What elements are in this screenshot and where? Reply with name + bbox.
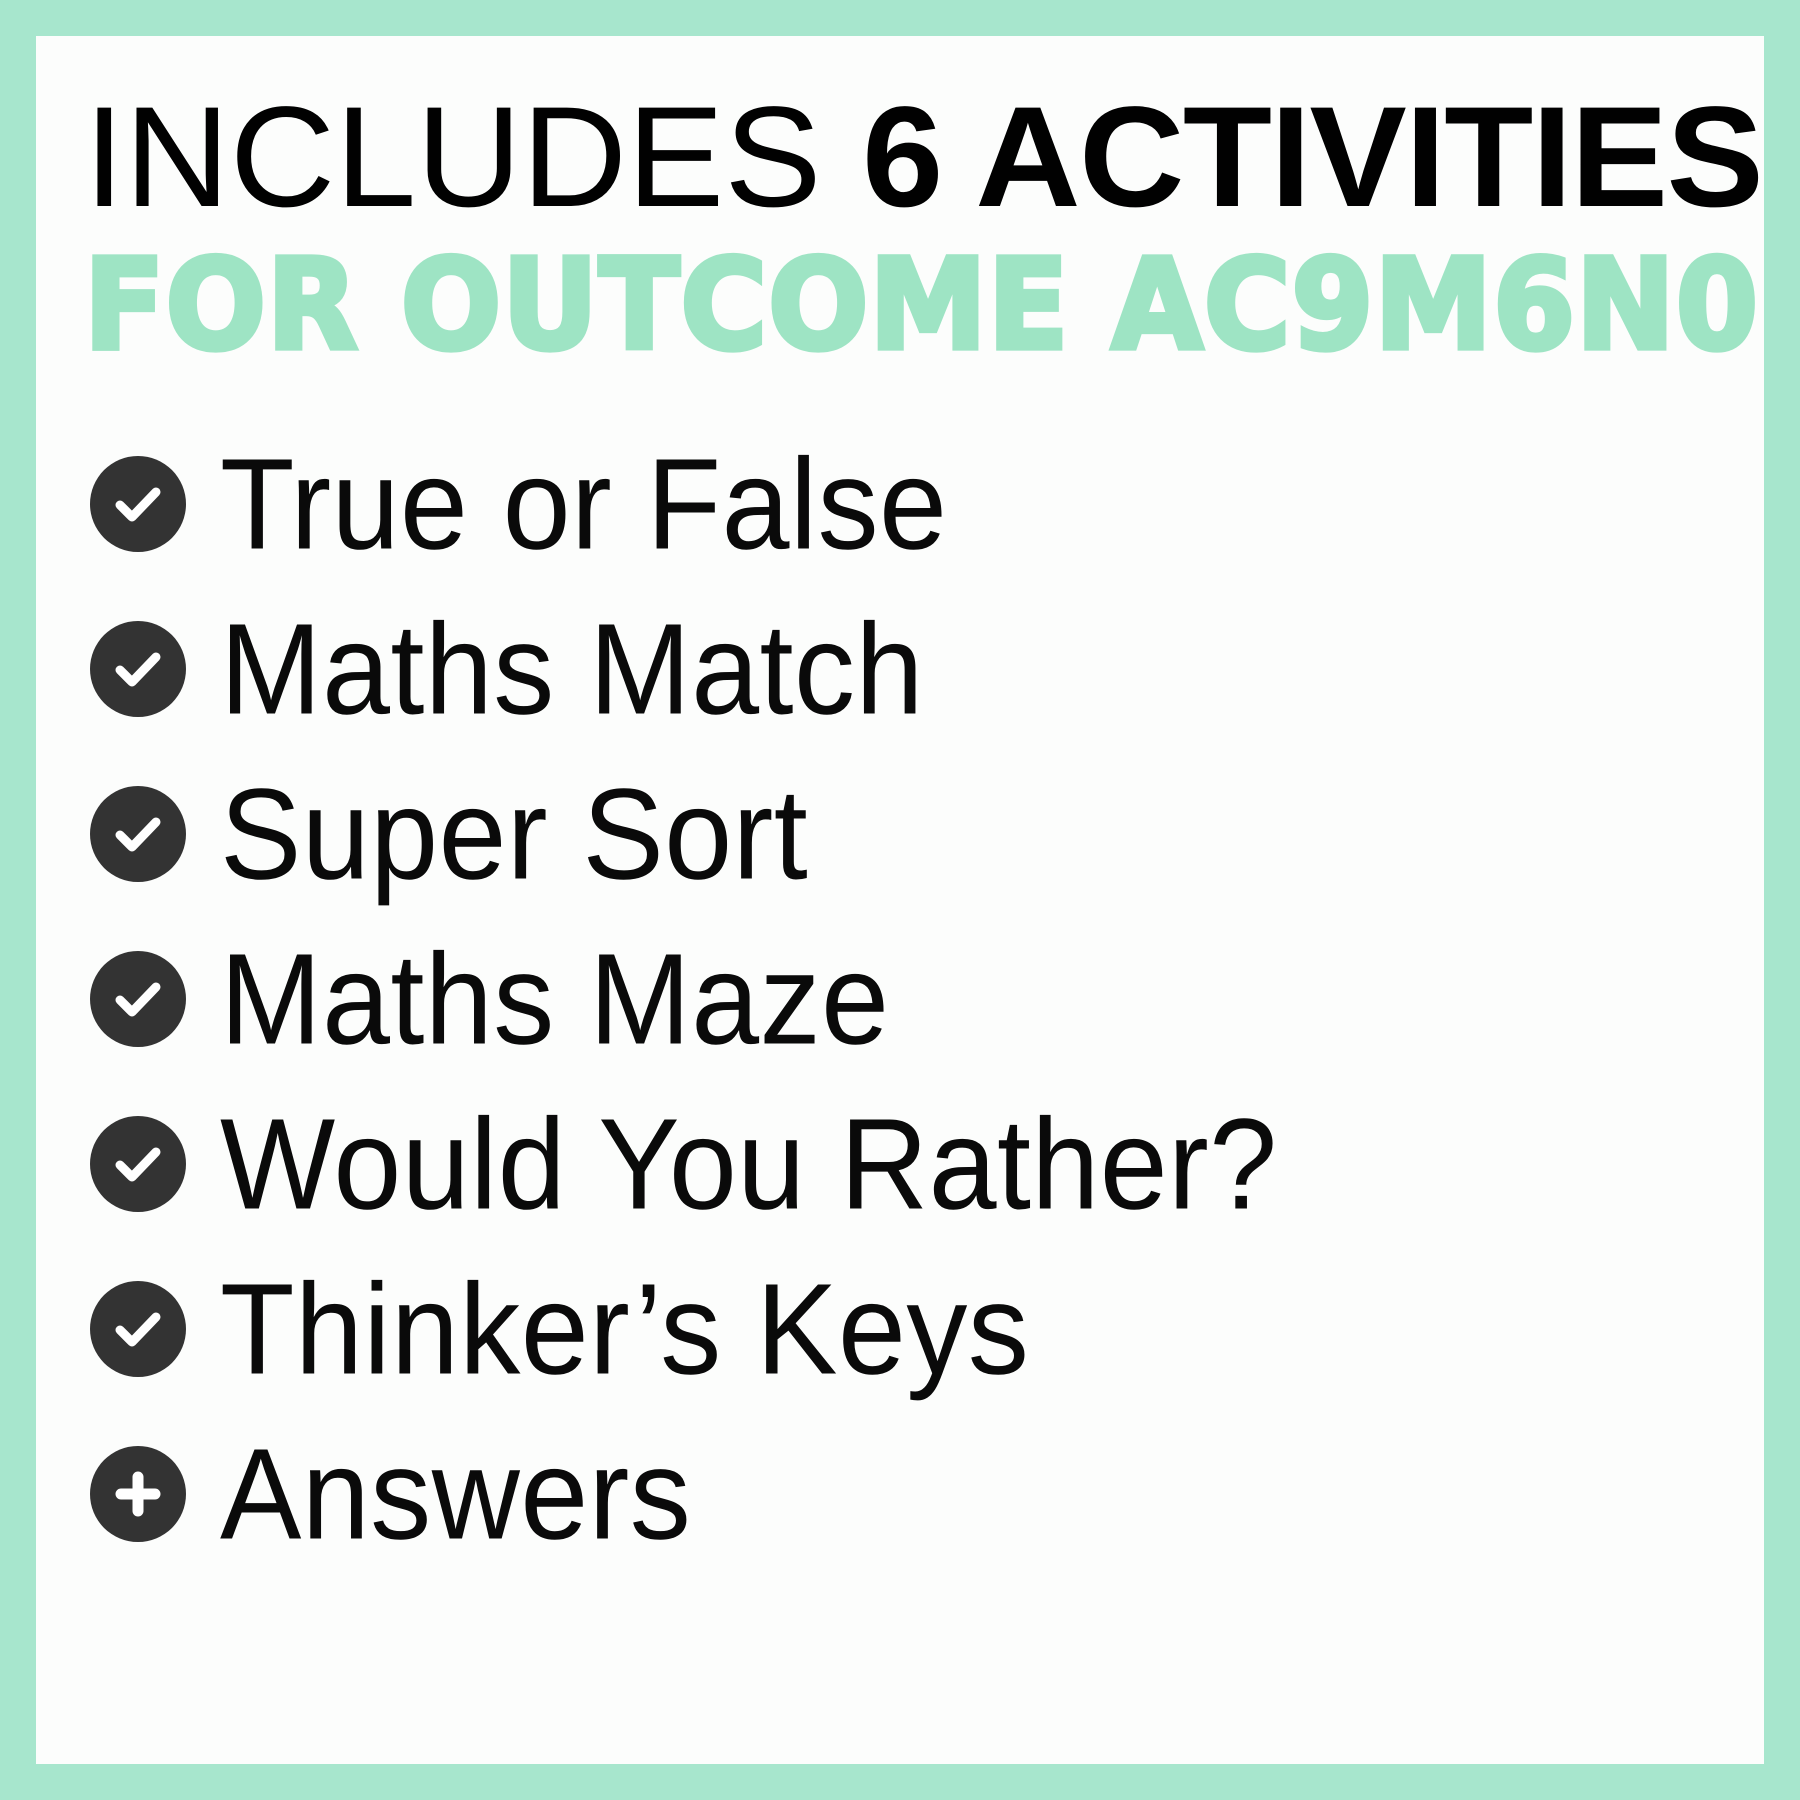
check-icon — [90, 1281, 186, 1377]
list-item: Answers — [84, 1412, 1730, 1577]
activity-label: Would You Rather? — [220, 1100, 1278, 1229]
activity-label: True or False — [220, 440, 947, 569]
list-item: Would You Rather? — [84, 1082, 1730, 1247]
list-item: True or False — [84, 422, 1730, 587]
activity-label: Maths Maze — [220, 935, 889, 1064]
list-item: Maths Match — [84, 587, 1730, 752]
poster-frame: INCLUDES 6 ACTIVITIES FOR OUTCOME AC9M6N… — [0, 0, 1800, 1800]
headline-primary-emphasis: 6 ACTIVITIES — [862, 78, 1762, 237]
check-icon — [90, 786, 186, 882]
headline-primary-prefix: INCLUDES — [84, 78, 862, 237]
plus-icon — [90, 1446, 186, 1542]
check-icon — [90, 456, 186, 552]
check-icon — [90, 621, 186, 717]
activity-label: Super Sort — [220, 770, 808, 899]
headline-secondary: FOR OUTCOME AC9M6N01 — [84, 244, 1730, 367]
headline-block: INCLUDES 6 ACTIVITIES FOR OUTCOME AC9M6N… — [84, 88, 1730, 360]
list-item: Maths Maze — [84, 917, 1730, 1082]
list-item: Thinker’s Keys — [84, 1247, 1730, 1412]
list-item: Super Sort — [84, 752, 1730, 917]
activity-list: True or False Maths Match Super Sort — [84, 422, 1730, 1577]
check-icon — [90, 1116, 186, 1212]
activity-label: Maths Match — [220, 605, 924, 734]
poster-card: INCLUDES 6 ACTIVITIES FOR OUTCOME AC9M6N… — [36, 36, 1764, 1764]
check-icon — [90, 951, 186, 1047]
activity-label: Thinker’s Keys — [220, 1265, 1029, 1394]
activity-label: Answers — [220, 1430, 691, 1559]
headline-primary: INCLUDES 6 ACTIVITIES — [84, 88, 1763, 228]
